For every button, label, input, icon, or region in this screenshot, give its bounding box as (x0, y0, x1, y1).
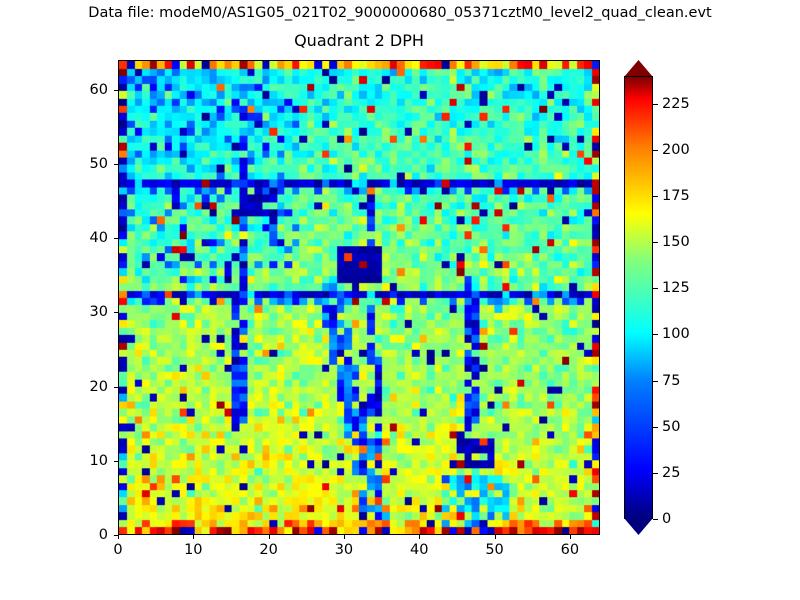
x-tick-label: 0 (113, 542, 122, 558)
x-tick-label: 10 (184, 542, 202, 558)
y-tick-mark (114, 238, 118, 239)
x-tick-mark (344, 535, 345, 539)
y-tick-mark (114, 387, 118, 388)
colorbar-over-arrow-icon (624, 60, 653, 77)
heatmap-image (119, 61, 599, 534)
colorbar-tick-mark (653, 288, 658, 289)
colorbar-tick-label: 0 (662, 511, 671, 527)
colorbar-tick-mark (653, 334, 658, 335)
colorbar-tick-mark (653, 473, 658, 474)
y-tick-label: 10 (60, 453, 108, 469)
figure-canvas: Data file: modeM0/AS1G05_021T02_90000006… (0, 0, 800, 600)
colorbar-tick-label: 175 (662, 188, 690, 204)
y-tick-label: 0 (60, 527, 108, 543)
plot-title: Quadrant 2 DPH (118, 31, 600, 50)
colorbar-tick-label: 25 (662, 465, 680, 481)
y-tick-label: 40 (60, 230, 108, 246)
x-tick-mark (419, 535, 420, 539)
colorbar-tick-label: 125 (662, 280, 690, 296)
colorbar-tick-label: 150 (662, 234, 690, 250)
x-tick-label: 40 (410, 542, 428, 558)
colorbar-tick-label: 100 (662, 326, 690, 342)
colorbar-tick-label: 75 (662, 373, 680, 389)
y-tick-mark (114, 90, 118, 91)
colorbar: 0255075100125150175200225 (624, 60, 653, 535)
colorbar-tick-mark (653, 104, 658, 105)
colorbar-tick-mark (653, 519, 658, 520)
x-tick-mark (495, 535, 496, 539)
heatmap-axes (118, 60, 600, 535)
y-tick-mark (114, 535, 118, 536)
y-tick-mark (114, 461, 118, 462)
x-tick-label: 60 (561, 542, 579, 558)
colorbar-tick-mark (653, 150, 658, 151)
colorbar-tick-label: 200 (662, 142, 690, 158)
colorbar-tick-mark (653, 242, 658, 243)
x-tick-mark (193, 535, 194, 539)
colorbar-tick-mark (653, 196, 658, 197)
x-tick-label: 30 (335, 542, 353, 558)
colorbar-tick-mark (653, 381, 658, 382)
y-tick-mark (114, 164, 118, 165)
y-tick-label: 60 (60, 82, 108, 98)
y-tick-mark (114, 312, 118, 313)
colorbar-tick-label: 225 (662, 96, 690, 112)
y-tick-label: 30 (60, 304, 108, 320)
x-tick-label: 20 (259, 542, 277, 558)
data-file-label: Data file: modeM0/AS1G05_021T02_90000006… (0, 5, 800, 21)
y-tick-label: 20 (60, 379, 108, 395)
x-tick-mark (118, 535, 119, 539)
x-tick-mark (269, 535, 270, 539)
colorbar-tick-label: 50 (662, 419, 680, 435)
x-tick-label: 50 (485, 542, 503, 558)
x-tick-mark (570, 535, 571, 539)
colorbar-tick-mark (653, 427, 658, 428)
colorbar-under-arrow-icon (624, 518, 653, 535)
colorbar-gradient (624, 76, 653, 519)
y-tick-label: 50 (60, 156, 108, 172)
